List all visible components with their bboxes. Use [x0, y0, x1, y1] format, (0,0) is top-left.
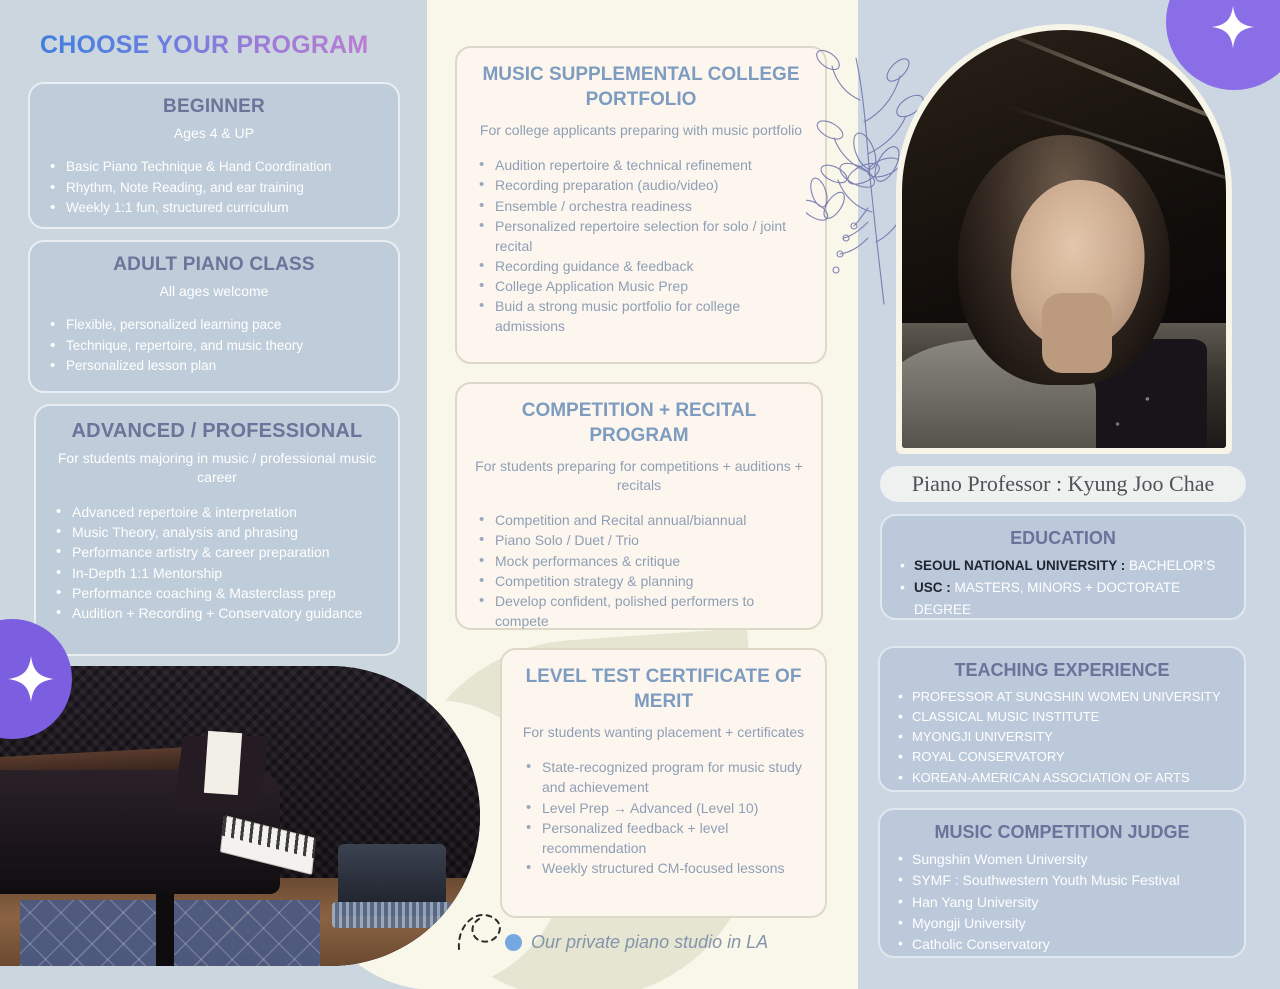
page-title: CHOOSE YOUR PROGRAM	[40, 31, 400, 60]
list-item: ROYAL CONSERVATORY	[890, 747, 1234, 767]
info-card-music-competition-judge: MUSIC COMPETITION JUDGE Sungshin Women U…	[878, 808, 1246, 958]
list-item: Basic Piano Technique & Hand Coordinatio…	[44, 157, 384, 178]
list-item: Recording guidance & feedback	[473, 256, 809, 276]
list-item: Myongji University	[890, 913, 1234, 934]
card-heading: MUSIC SUPPLEMENTAL COLLEGE PORTFOLIO	[473, 62, 809, 112]
list-item: Advanced repertoire & interpretation	[50, 502, 384, 522]
list-item: Weekly 1:1 fun, structured curriculum	[44, 198, 384, 219]
list-item: Performance coaching & Masterclass prep	[50, 583, 384, 603]
card-subtitle: For students preparing for competitions …	[473, 457, 805, 495]
card-feature-list: Advanced repertoire & interpretation Mus…	[50, 502, 384, 624]
sheet-music	[204, 731, 242, 795]
list-item: Audition repertoire & technical refineme…	[473, 155, 809, 175]
card-heading: EDUCATION	[892, 528, 1234, 549]
program-card-level-test-certificate-of-merit: LEVEL TEST CERTIFICATE OF MERIT For stud…	[500, 648, 827, 918]
list-item: Recording preparation (audio/video)	[473, 175, 809, 195]
piano-studio-photo	[0, 666, 480, 966]
list-item: Buid a strong music portfolio for colleg…	[473, 296, 809, 336]
program-card-advanced-professional: ADVANCED / PROFESSIONAL For students maj…	[34, 404, 400, 656]
teaching-list: PROFESSOR AT SUNGSHIN WOMEN UNIVERSITY C…	[890, 687, 1234, 788]
card-heading: MUSIC COMPETITION JUDGE	[890, 822, 1234, 843]
list-item: Performance artistry & career preparatio…	[50, 542, 384, 562]
program-card-adult-piano-class: ADULT PIANO CLASS All ages welcome Flexi…	[28, 240, 400, 393]
card-subtitle: For students wanting placement + certifi…	[520, 723, 807, 742]
card-subtitle: Ages 4 & UP	[44, 124, 384, 143]
list-item: Flexible, personalized learning pace	[44, 315, 384, 336]
card-heading: ADULT PIANO CLASS	[44, 254, 384, 276]
sparkle-icon	[6, 654, 56, 704]
list-item: In-Depth 1:1 Mentorship	[50, 563, 384, 583]
list-item: KOREAN-AMERICAN ASSOCIATION OF ARTS	[890, 768, 1234, 788]
list-item: Mock performances & critique	[473, 551, 805, 571]
card-heading: BEGINNER	[44, 96, 384, 118]
list-item: Han Yang University	[890, 892, 1234, 913]
card-subtitle: All ages welcome	[44, 282, 384, 301]
list-item: SEOUL NATIONAL UNIVERSITY : BACHELOR’S	[892, 555, 1234, 577]
list-item: Personalized lesson plan	[44, 356, 384, 377]
professor-name-badge: Piano Professor : Kyung Joo Chae	[880, 466, 1246, 502]
studio-note-text: Our private piano studio in LA	[531, 932, 768, 953]
card-heading: TEACHING EXPERIENCE	[890, 660, 1234, 681]
program-card-beginner: BEGINNER Ages 4 & UP Basic Piano Techniq…	[28, 82, 400, 229]
card-heading: LEVEL TEST CERTIFICATE OF MERIT	[520, 664, 807, 714]
portrait-neck	[1042, 293, 1112, 373]
blue-dot-icon	[505, 934, 522, 951]
list-item: Piano Solo / Duet / Trio	[473, 530, 805, 550]
list-item: Audition + Recording + Conservatory guid…	[50, 603, 384, 623]
info-card-teaching-experience: TEACHING EXPERIENCE PROFESSOR AT SUNGSHI…	[878, 646, 1246, 792]
list-item: Personalized repertoire selection for so…	[473, 216, 809, 256]
card-feature-list: Audition repertoire & technical refineme…	[473, 155, 809, 336]
professor-portrait-photo	[902, 30, 1226, 448]
list-item: Develop confident, polished performers t…	[473, 591, 805, 631]
list-item: Rhythm, Note Reading, and ear training	[44, 178, 384, 199]
list-item: PROFESSOR AT SUNGSHIN WOMEN UNIVERSITY	[890, 687, 1234, 707]
list-item: College Application Music Prep	[473, 276, 809, 296]
professor-name-text: Piano Professor : Kyung Joo Chae	[912, 471, 1214, 497]
card-heading: COMPETITION + RECITAL PROGRAM	[473, 398, 805, 448]
list-item: CLASSICAL MUSIC INSTITUTE	[890, 707, 1234, 727]
bench-cushion	[332, 902, 452, 928]
card-feature-list: Basic Piano Technique & Hand Coordinatio…	[44, 157, 384, 219]
education-list: SEOUL NATIONAL UNIVERSITY : BACHELOR’S U…	[892, 555, 1234, 621]
card-feature-list: State-recognized program for music study…	[520, 757, 807, 878]
list-item: Level Prep → Advanced (Level 10)	[520, 798, 807, 818]
studio-note: Our private piano studio in LA	[505, 932, 768, 953]
list-item: SYMF : Southwestern Youth Music Festival	[890, 870, 1234, 891]
judge-list: Sungshin Women University SYMF : Southwe…	[890, 849, 1234, 955]
list-item: Technique, repertoire, and music theory	[44, 336, 384, 357]
card-feature-list: Competition and Recital annual/biannual …	[473, 510, 805, 631]
list-item: Music Theory, analysis and phrasing	[50, 522, 384, 542]
list-item: Competition and Recital annual/biannual	[473, 510, 805, 530]
professor-portrait-frame	[896, 24, 1232, 454]
education-degree: MASTERS, MINORS + DOCTORATE DEGREE	[914, 580, 1180, 617]
card-heading: ADVANCED / PROFESSIONAL	[50, 420, 384, 443]
card-subtitle: For college applicants preparing with mu…	[473, 121, 809, 140]
list-item: Weekly structured CM-focused lessons	[520, 858, 807, 878]
list-item: USC : MASTERS, MINORS + DOCTORATE DEGREE	[892, 577, 1234, 621]
program-card-music-supplemental-college-portfolio: MUSIC SUPPLEMENTAL COLLEGE PORTFOLIO For…	[455, 46, 827, 364]
list-item: Competition strategy & planning	[473, 571, 805, 591]
list-item: Personalized feedback + level recommenda…	[520, 818, 807, 858]
sparkle-icon	[1210, 4, 1256, 50]
list-item: State-recognized program for music study…	[520, 757, 807, 797]
program-card-competition-recital: COMPETITION + RECITAL PROGRAM For studen…	[455, 382, 823, 630]
list-item: Sungshin Women University	[890, 849, 1234, 870]
list-item: Catholic Conservatory	[890, 934, 1234, 955]
info-card-education: EDUCATION SEOUL NATIONAL UNIVERSITY : BA…	[880, 514, 1246, 620]
list-item: Ensemble / orchestra readiness	[473, 196, 809, 216]
education-degree: BACHELOR’S	[1125, 558, 1215, 573]
piano-leg	[156, 894, 174, 966]
education-institution: USC :	[914, 580, 951, 595]
education-institution: SEOUL NATIONAL UNIVERSITY :	[914, 558, 1125, 573]
list-item: MYONGJI UNIVERSITY	[890, 727, 1234, 747]
card-subtitle: For students majoring in music / profess…	[50, 449, 384, 488]
card-feature-list: Flexible, personalized learning pace Tec…	[44, 315, 384, 377]
